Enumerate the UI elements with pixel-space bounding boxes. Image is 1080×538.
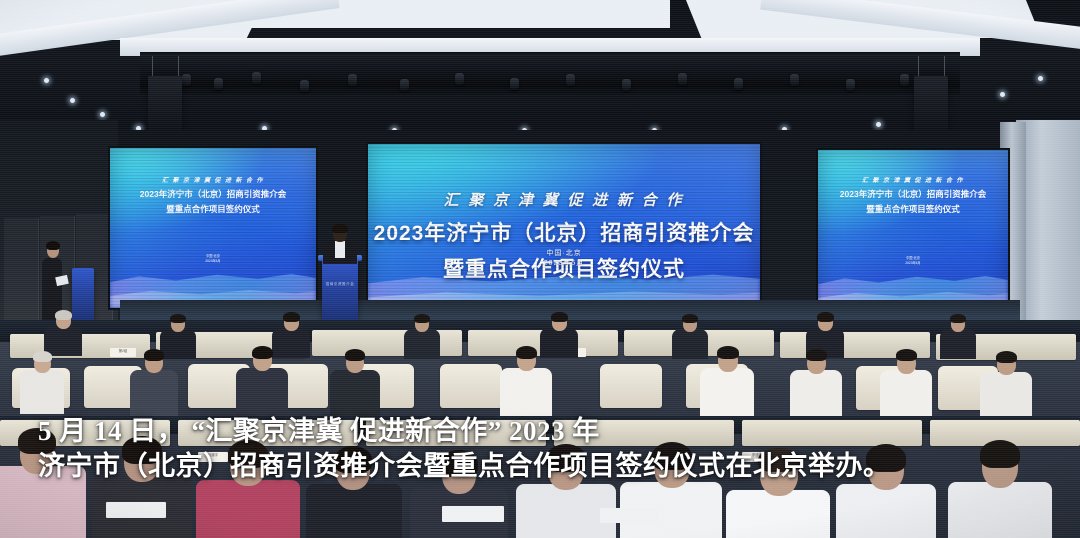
ceiling <box>0 0 1080 150</box>
person-hair <box>33 351 52 362</box>
person-torso <box>880 370 932 420</box>
stage-light <box>300 80 309 92</box>
audience-chair <box>440 364 502 408</box>
person-hair <box>283 312 300 322</box>
speaker-rig-cable <box>918 56 919 78</box>
main-screen-content: 汇 聚 京 津 冀 促 进 新 合 作 2023年济宁市（北京）招商引资推介会 … <box>368 144 760 310</box>
person-hair <box>170 314 186 323</box>
right-screen-title-line2: 暨重点合作项目签约仪式 <box>866 203 960 215</box>
stage-light <box>510 78 519 90</box>
main-screen-script-line: 汇 聚 京 津 冀 促 进 新 合 作 <box>444 189 685 210</box>
person-hair <box>414 314 430 323</box>
document-on-desk <box>600 508 658 523</box>
audience-member <box>700 346 754 416</box>
stage-light <box>622 79 631 91</box>
screenshot-root: 汇 聚 京 津 冀 促 进 新 合 作 2023年济宁市（北京）招商引资推介会 … <box>0 0 1080 538</box>
person-torso <box>196 480 300 538</box>
led-screen-main: 汇 聚 京 津 冀 促 进 新 合 作 2023年济宁市（北京）招商引资推介会 … <box>368 144 760 310</box>
audience-chair <box>600 364 662 408</box>
person-hair <box>516 346 537 359</box>
ceiling-downlight <box>100 112 105 117</box>
speaker-rig-cable <box>178 56 179 78</box>
person-hair <box>55 310 72 320</box>
person-hair <box>950 314 966 323</box>
person-torso <box>836 484 936 538</box>
audience-member <box>130 348 178 412</box>
left-screen-footer-line2: 2023年5月 <box>110 259 316 264</box>
person-torso <box>726 490 830 538</box>
person-hair <box>717 346 739 359</box>
stage-light <box>182 74 191 86</box>
person-hair <box>682 314 698 323</box>
stage-light <box>566 74 575 86</box>
stage-light <box>900 74 909 86</box>
speaker-shirt <box>335 241 345 258</box>
audience-member <box>236 346 288 414</box>
ceiling-downlight <box>44 78 49 83</box>
person-hair <box>252 346 273 359</box>
person-hair <box>817 312 834 322</box>
person-torso <box>306 484 402 538</box>
left-screen-footer: 中国·北京 2023年5月 <box>110 254 316 264</box>
stage-light <box>846 79 855 91</box>
main-screen-footer: 中国·北京 2023年5月 <box>368 249 760 271</box>
person-torso <box>700 368 754 420</box>
left-screen-script-line: 汇 聚 京 津 冀 促 进 新 合 作 <box>162 175 264 184</box>
podium-vertical-text: 招商引资推介会 <box>322 282 358 287</box>
stage-light <box>400 79 409 91</box>
main-screen-footer-line2: 2023年5月 <box>368 259 760 270</box>
person-hair <box>896 349 917 361</box>
speaker-rig-cable <box>944 56 945 78</box>
lighting-truss <box>140 54 960 88</box>
usher-hair <box>46 241 60 250</box>
caption-line-2: 济宁市（北京）招商引资推介会暨重点合作项目签约仪式在北京举办。 <box>38 449 1048 484</box>
led-screen-right: 汇 聚 京 津 冀 促 进 新 合 作 2023年济宁市（北京）招商引资推介会 … <box>818 150 1008 310</box>
person-torso <box>236 368 288 418</box>
person-hair <box>806 349 827 361</box>
audience-member <box>44 310 82 354</box>
right-screen-title-line1: 2023年济宁市（北京）招商引资推介会 <box>840 188 986 200</box>
audience-member <box>500 346 552 414</box>
right-screen-content: 汇 聚 京 津 冀 促 进 新 合 作 2023年济宁市（北京）招商引资推介会 … <box>818 150 1008 310</box>
stage-light <box>790 74 799 86</box>
person-hair <box>345 349 365 361</box>
audience-member <box>20 350 64 410</box>
stage-light <box>252 72 261 84</box>
left-screen-title-line1: 2023年济宁市（北京）招商引资推介会 <box>140 188 286 200</box>
stage-light <box>734 78 743 90</box>
main-screen-footer-line1: 中国·北京 <box>368 249 760 260</box>
speaker-at-podium <box>316 222 364 262</box>
audience-member <box>790 348 842 416</box>
right-screen-footer: 中国·北京 2023年5月 <box>818 256 1008 266</box>
caption-overlay: 5 月 14 日， “汇聚京津冀 促进新合作” 2023 年 济宁市（北京）招商… <box>38 414 1048 483</box>
person-torso <box>404 329 440 359</box>
left-screen-title-line2: 暨重点合作项目签约仪式 <box>166 203 260 215</box>
audience-member <box>404 314 440 356</box>
person-torso <box>790 370 842 420</box>
person-hair <box>996 351 1017 363</box>
document-on-desk <box>442 506 504 522</box>
usher-document <box>55 275 69 286</box>
speaker-hair <box>332 224 348 233</box>
left-screen-content: 汇 聚 京 津 冀 促 进 新 合 作 2023年济宁市（北京）招商引资推介会 … <box>110 148 316 308</box>
person-torso <box>948 482 1052 538</box>
person-torso <box>130 370 178 416</box>
stage-light <box>455 73 464 85</box>
right-screen-script-line: 汇 聚 京 津 冀 促 进 新 合 作 <box>862 175 964 184</box>
podium-main: 招商引资推介会 <box>322 258 358 320</box>
audience-member <box>940 314 976 356</box>
person-torso <box>980 372 1032 420</box>
ceiling-downlight <box>1000 92 1005 97</box>
ceiling-downlight <box>876 122 881 127</box>
audience-member <box>980 350 1032 416</box>
audience-member <box>330 348 380 414</box>
person-torso <box>500 368 552 418</box>
person-hair <box>144 349 164 361</box>
person-torso <box>940 329 976 359</box>
caption-line-1: 5 月 14 日， “汇聚京津冀 促进新合作” 2023 年 <box>38 414 1048 449</box>
person-torso <box>20 370 64 414</box>
ceiling-downlight <box>1038 76 1043 81</box>
document-on-desk <box>106 502 166 518</box>
person-torso <box>330 370 380 418</box>
stage-light <box>348 74 357 86</box>
ceiling-downlight <box>70 98 75 103</box>
person-hair <box>551 312 568 322</box>
led-screen-left: 汇 聚 京 津 冀 促 进 新 合 作 2023年济宁市（北京）招商引资推介会 … <box>110 148 316 308</box>
audience-member <box>880 348 932 416</box>
main-screen-title-line1: 2023年济宁市（北京）招商引资推介会 <box>374 217 755 247</box>
right-screen-footer-line2: 2023年5月 <box>818 261 1008 266</box>
speaker-rig-cable <box>152 56 153 78</box>
stage-light <box>678 73 687 85</box>
stage-light <box>214 78 223 90</box>
